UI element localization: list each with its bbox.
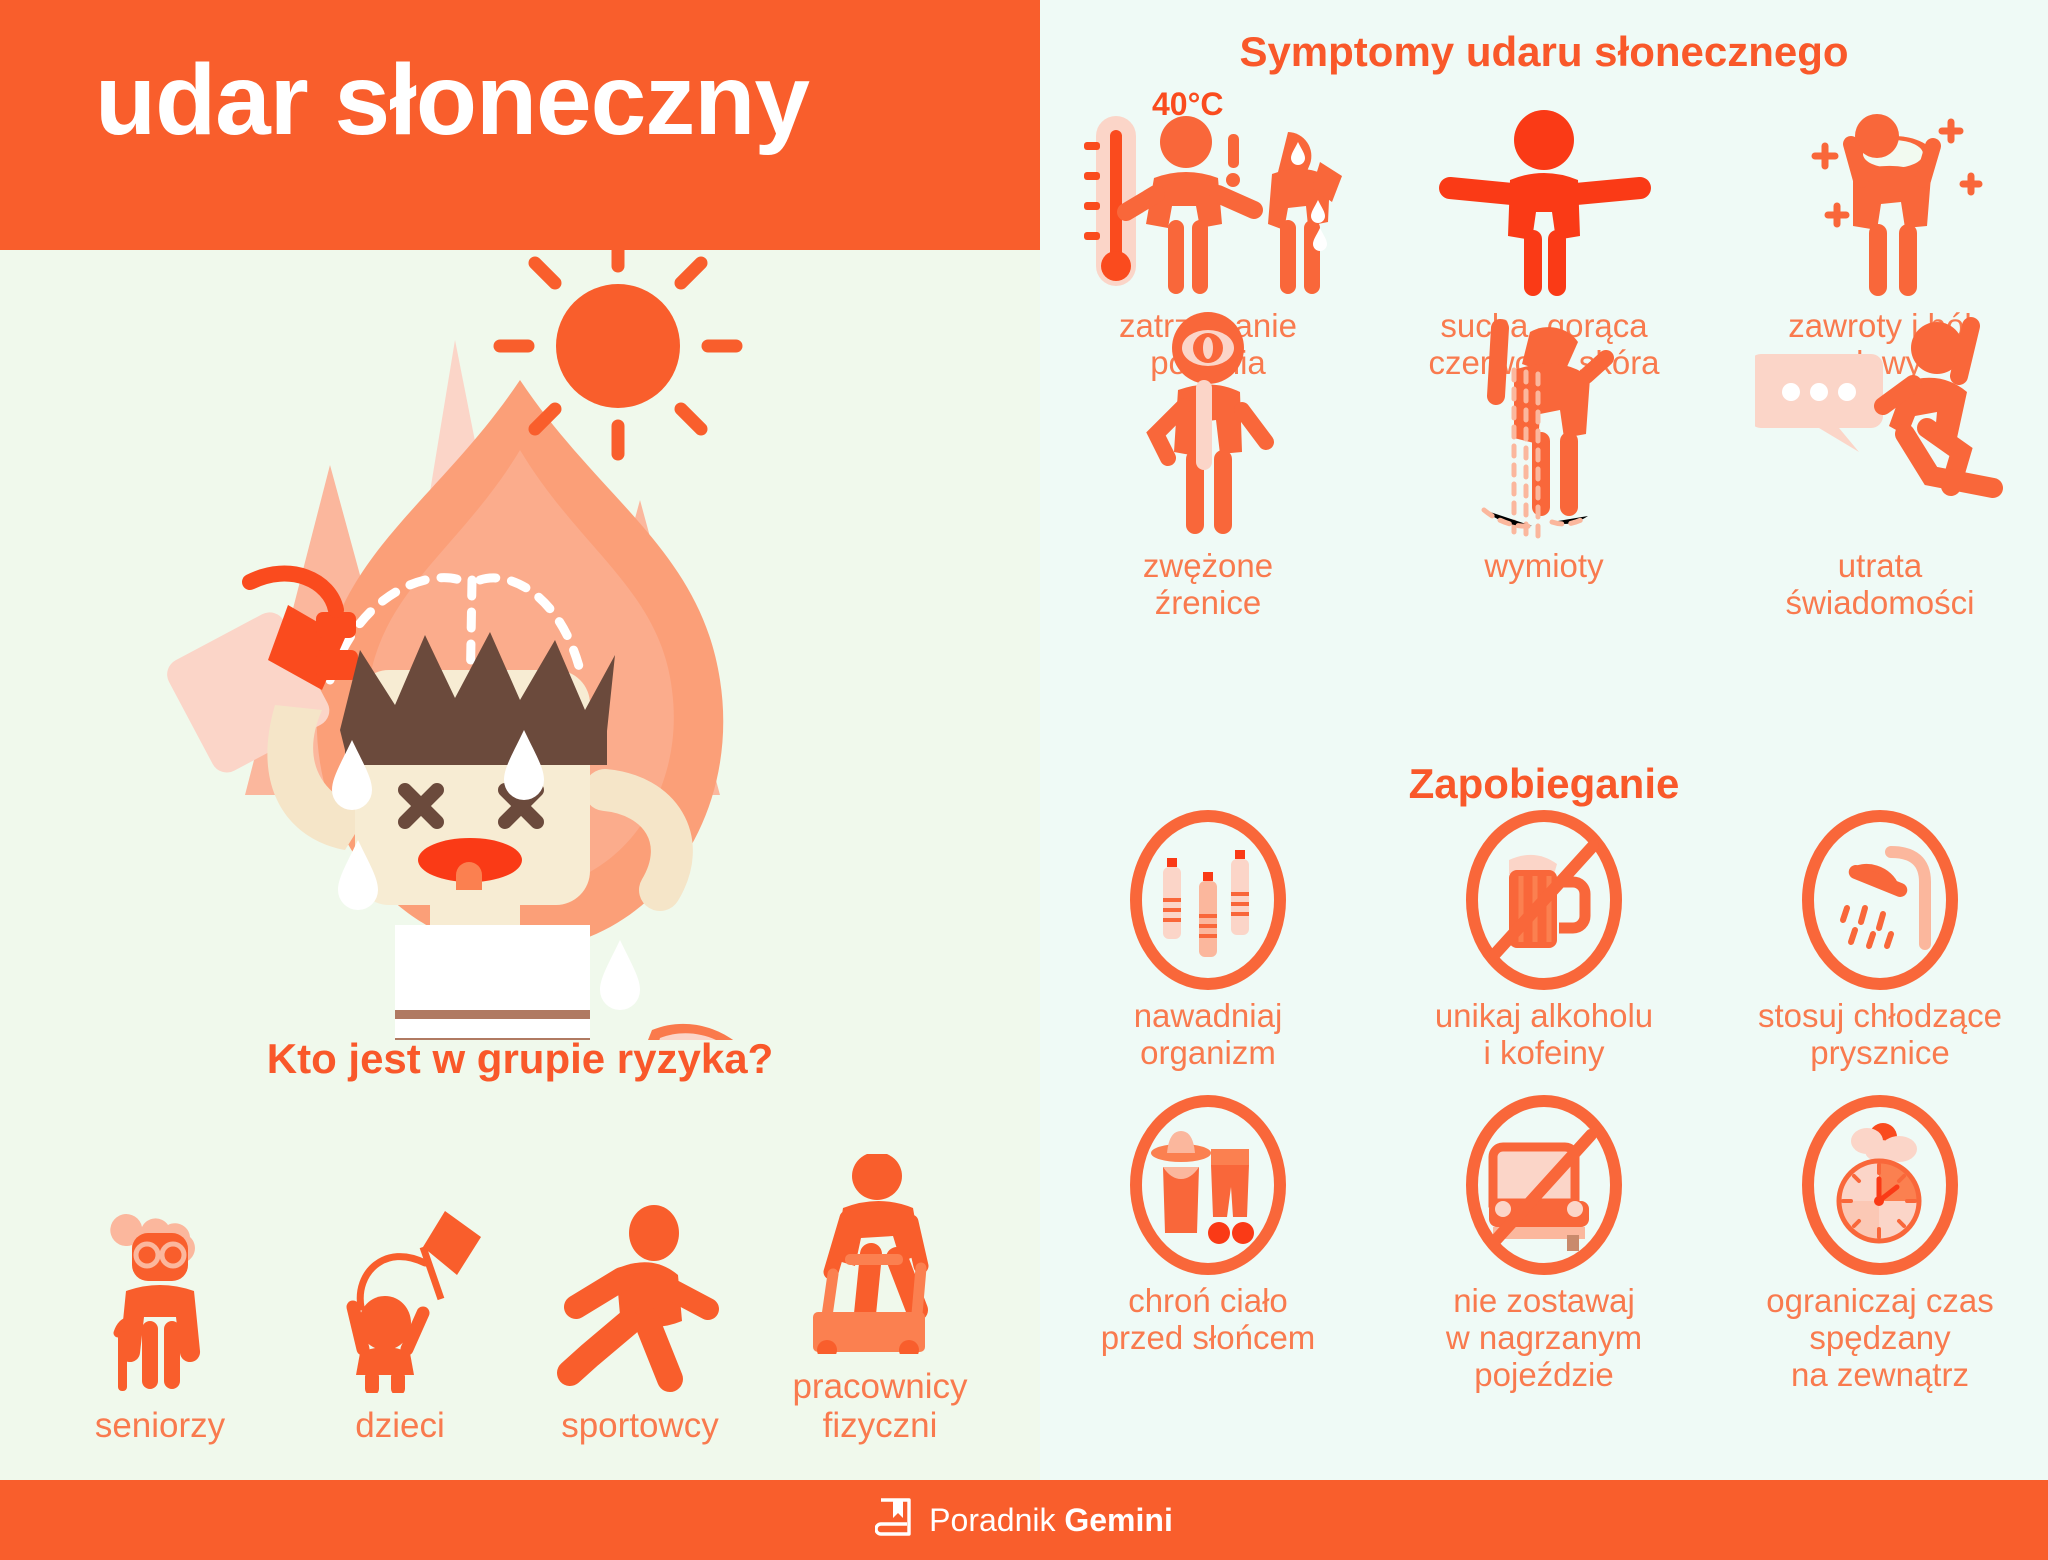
no-hot-car-icon [1376,1095,1712,1275]
prevention-label: nie zostawajw nagrzanympojeździe [1376,1283,1712,1394]
elderly-person-icon [55,1203,265,1393]
risk-item-seniors[interactable]: seniorzy [55,1203,265,1446]
risk-item-children[interactable]: dzieci [295,1203,505,1446]
prevention-no-hot-car[interactable]: nie zostawajw nagrzanympojeździe [1376,1095,1712,1394]
risk-group-row: seniorzy dzieci [0,1105,1040,1445]
prevention-row-2: chroń ciałoprzed słońcem nie zost [1040,1095,2048,1394]
prevention-label: stosuj chłodząceprysznice [1712,998,2048,1072]
left-panel: udar słoneczny [0,0,1040,1480]
runner-icon [535,1203,745,1393]
dizziness-headache-icon [1712,110,2048,300]
footer-bar: Poradnik Gemini [0,1480,2048,1560]
hero-illustration [0,250,1040,1040]
symptom-label: utrataświadomości [1712,548,2048,622]
prevention-avoid-alcohol[interactable]: unikaj alkoholui kofeiny [1376,810,1712,1072]
symptom-label: wymioty [1376,548,1712,585]
prevention-hydrate[interactable]: nawadniajorganizm [1040,810,1376,1072]
prevention-heading: Zapobieganie [1040,760,2048,808]
right-panel: Symptomy udaru słonecznego 40°C [1040,0,2048,1480]
prevention-label: chroń ciałoprzed słońcem [1040,1283,1376,1357]
risk-group-heading: Kto jest w grupie ryzyka? [0,1035,1040,1083]
risk-item-label: dzieci [295,1407,505,1446]
prevention-row-1: nawadniajorganizm unikaj alkoholui kofei… [1040,810,2048,1072]
footer-brand: Poradnik Gemini [929,1502,1173,1539]
symptom-loss-of-consciousness[interactable]: utrataświadomości [1712,350,2048,622]
thermometer-no-sweat-icon [1040,110,1376,300]
loss-of-consciousness-icon [1712,350,2048,540]
limit-outdoor-time-icon [1712,1095,2048,1275]
prevention-label: nawadniajorganizm [1040,998,1376,1072]
water-bottles-icon [1040,810,1376,990]
sun-icon [500,250,736,454]
prevention-limit-outdoor-time[interactable]: ograniczaj czasspędzanyna zewnątrz [1712,1095,2048,1394]
risk-item-manual-workers[interactable]: pracownicyfizyczni [775,1164,985,1445]
symptoms-row-2: zwężoneźrenice [1040,350,2048,622]
prevention-label: unikaj alkoholui kofeiny [1376,998,1712,1072]
no-beer-icon [1376,810,1712,990]
symptoms-heading: Symptomy udaru słonecznego [1040,28,2048,76]
symptom-vomiting[interactable]: wymioty [1376,350,1712,622]
risk-item-label: pracownicyfizyczni [775,1368,985,1445]
risk-item-label: sportowcy [535,1407,745,1446]
prevention-cool-showers[interactable]: stosuj chłodząceprysznice [1712,810,2048,1072]
footer-prefix: Poradnik [929,1502,1064,1538]
vomiting-icon [1376,350,1712,540]
constricted-pupils-icon [1040,350,1376,540]
risk-item-label: seniorzy [55,1407,265,1446]
symptom-constricted-pupils[interactable]: zwężoneźrenice [1040,350,1376,622]
risk-item-athletes[interactable]: sportowcy [535,1203,745,1446]
child-with-kite-icon [295,1203,505,1393]
page-title: udar słoneczny [95,48,809,153]
infographic-poster: udar słoneczny [0,0,2048,1560]
footer-brand-name: Gemini [1064,1502,1172,1538]
red-hot-skin-icon [1376,110,1712,300]
cool-shower-icon [1712,810,2048,990]
manual-worker-icon [775,1164,985,1354]
symptom-label: zwężoneźrenice [1040,548,1376,622]
book-icon [875,1496,915,1545]
prevention-label: ograniczaj czasspędzanyna zewnątrz [1712,1283,2048,1394]
prevention-protect-body[interactable]: chroń ciałoprzed słońcem [1040,1095,1376,1394]
protective-clothing-icon [1040,1095,1376,1275]
